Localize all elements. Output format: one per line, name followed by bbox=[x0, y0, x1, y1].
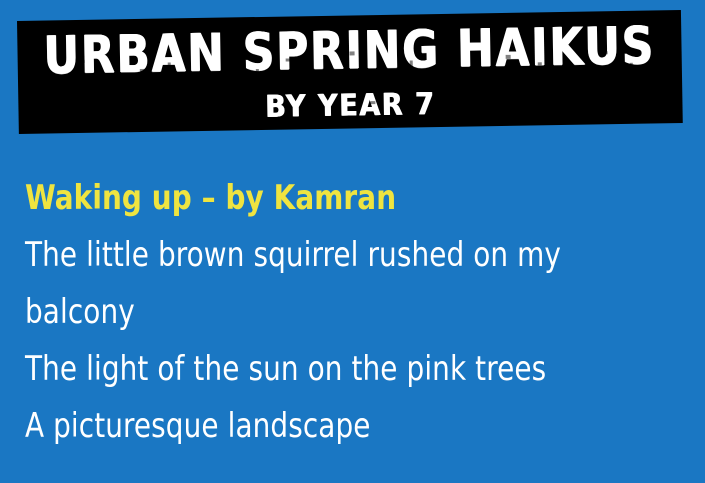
poster-subtitle: BY YEAR 7 bbox=[265, 86, 436, 126]
title-banner-content: URBAN SPRING HAIKUS BY YEAR 7 bbox=[17, 10, 683, 134]
poem-line: The light of the sun on the pink trees bbox=[25, 339, 685, 401]
poem-body: Waking up – by Kamran The little brown s… bbox=[25, 170, 685, 455]
poem-heading: Waking up – by Kamran bbox=[25, 168, 685, 230]
title-banner: URBAN SPRING HAIKUS BY YEAR 7 bbox=[17, 10, 683, 134]
poem-line: The little brown squirrel rushed on my bbox=[25, 225, 685, 287]
poster-title: URBAN SPRING HAIKUS bbox=[43, 12, 656, 91]
poem-line: A picturesque landscape bbox=[25, 396, 685, 458]
poem-line: balcony bbox=[25, 282, 685, 344]
haiku-poster: URBAN SPRING HAIKUS BY YEAR 7 bbox=[0, 0, 705, 483]
